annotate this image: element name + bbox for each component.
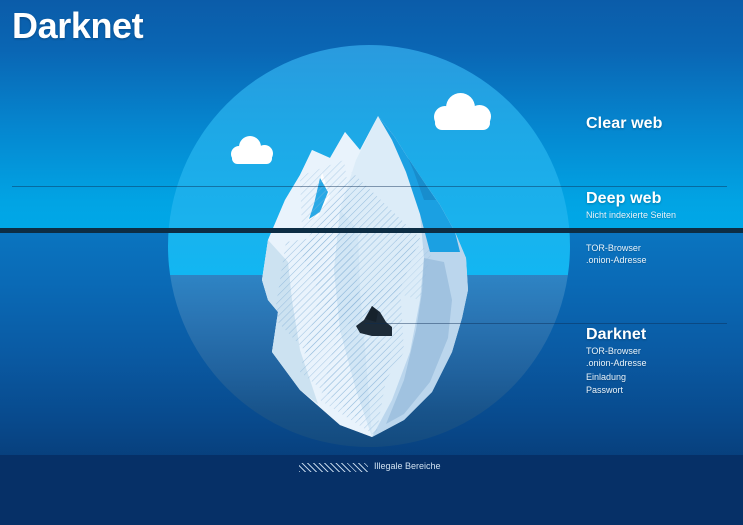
label-darknet-tor-browser: TOR-Browser (586, 345, 641, 358)
infographic-canvas: Darknet Clear web Deep web Nicht indexie… (0, 0, 743, 525)
legend-label: Illegale Bereiche (374, 461, 441, 471)
darknet-divider (365, 323, 727, 324)
label-darknet: Darknet (586, 326, 646, 344)
label-darknet-einladung: Einladung (586, 371, 626, 384)
page-title: Darknet (12, 5, 143, 47)
label-clear-web: Clear web (586, 115, 663, 133)
label-deep-web-subline: Nicht indexierte Seiten (586, 209, 676, 222)
waterline (0, 228, 743, 233)
label-darknet-passwort: Passwort (586, 384, 623, 397)
label-deep-web: Deep web (586, 190, 662, 208)
label-onion-adresse: .onion-Adresse (586, 254, 647, 267)
clear-deep-divider (12, 186, 727, 187)
legend-hatch-swatch (299, 463, 368, 472)
label-darknet-onion-adresse: .onion-Adresse (586, 357, 647, 370)
label-tor-browser: TOR-Browser (586, 242, 641, 255)
